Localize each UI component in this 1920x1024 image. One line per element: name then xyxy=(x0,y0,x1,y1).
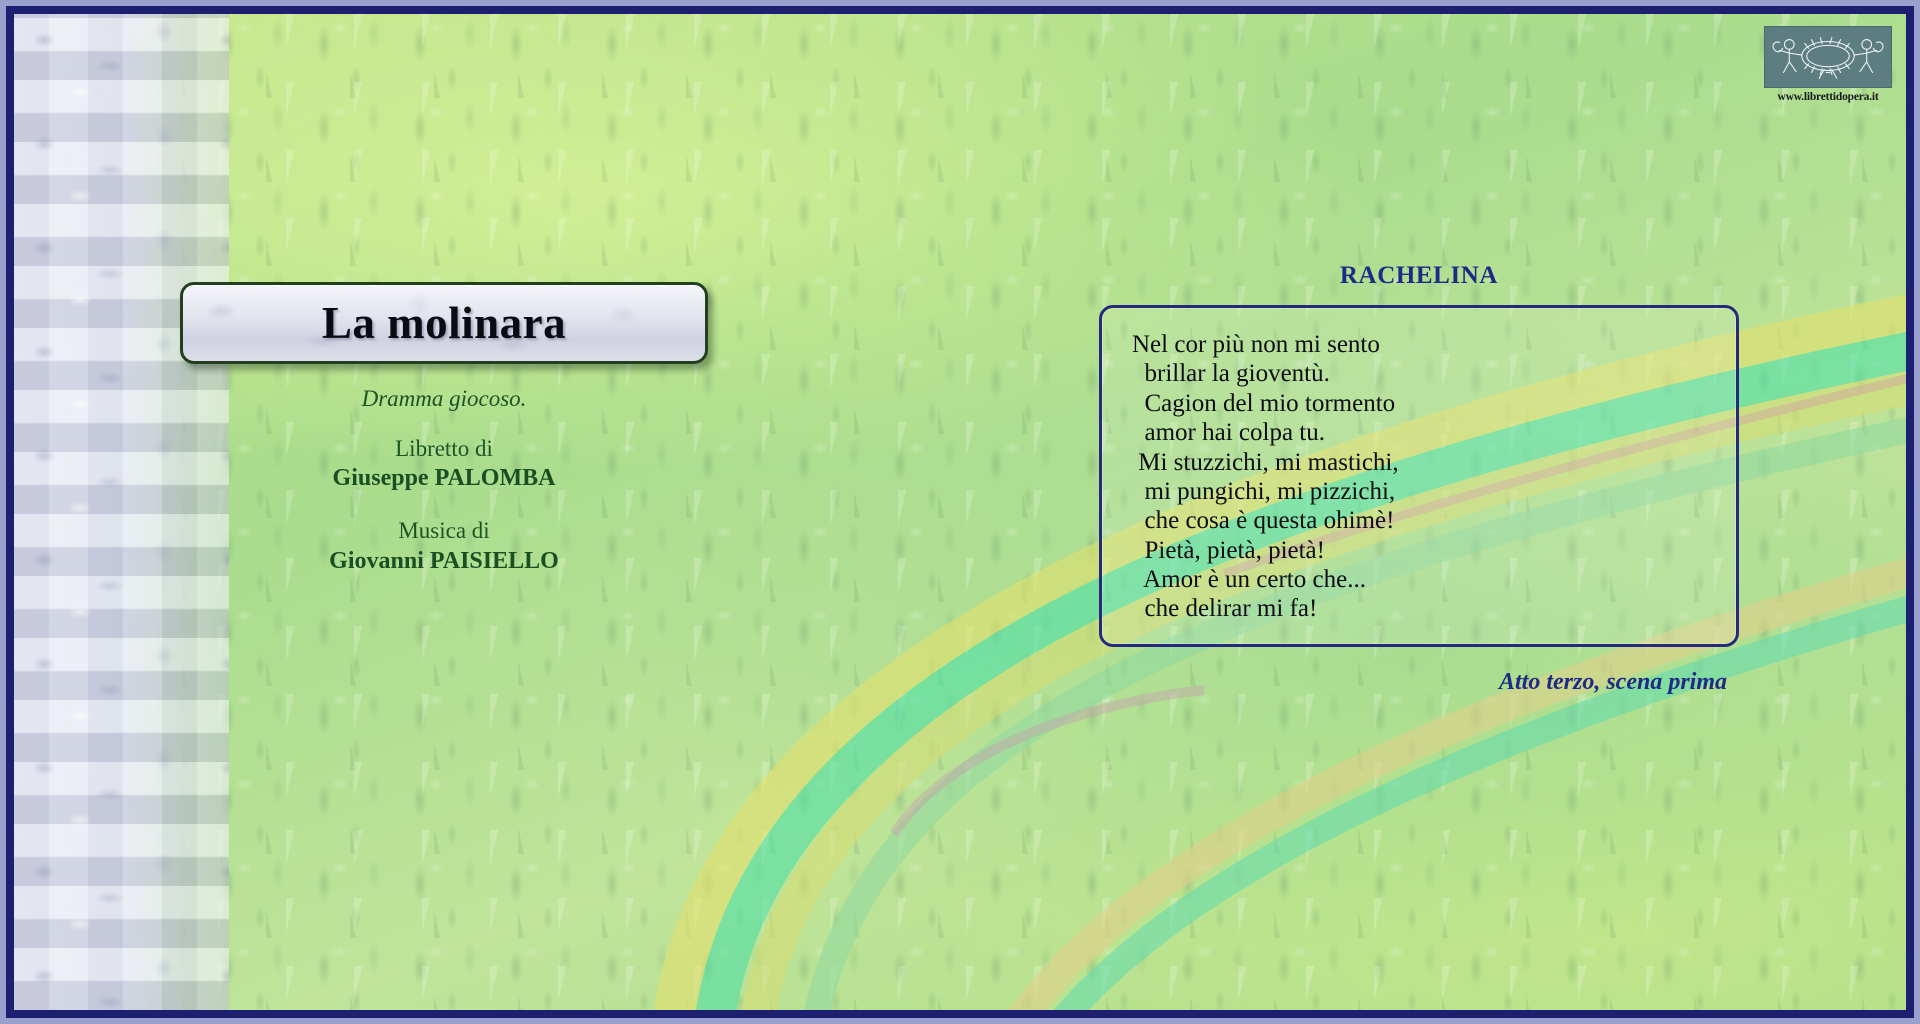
page-frame: www.librettidopera.it La molinara Dramma… xyxy=(6,6,1914,1018)
character-name: RACHELINA xyxy=(1099,262,1739,290)
two-putti-with-laurel-wreath-emblem xyxy=(1764,26,1892,88)
aria-line: che delirar mi fa! xyxy=(1132,594,1706,623)
page-title: La molinara xyxy=(322,297,566,349)
logo-caption: www.librettidopera.it xyxy=(1764,91,1892,103)
subtitle: Dramma giocoso. xyxy=(164,386,724,412)
aria-line: mi pungichi, mi pizzichi, xyxy=(1132,477,1706,506)
aria-line: Pietà, pietà, pietà! xyxy=(1132,536,1706,565)
aria-line: Amor è un certo che... xyxy=(1132,565,1706,594)
libretto-credit: Libretto di Giuseppe PALOMBA xyxy=(164,434,724,494)
libretto-role-label: Libretto di xyxy=(164,434,724,463)
aria-line: Nel cor più non mi sento xyxy=(1132,330,1706,359)
title-block: La molinara Dramma giocoso. Libretto di … xyxy=(164,282,724,576)
aria-line: Cagion del mio tormento xyxy=(1132,389,1706,418)
aria-line: Mi stuzzichi, mi mastichi, xyxy=(1132,448,1706,477)
libretto-author: Giuseppe PALOMBA xyxy=(164,463,724,494)
music-credit: Musica di Giovanni PAISIELLO xyxy=(164,516,724,576)
music-author: Giovanni PAISIELLO xyxy=(164,546,724,577)
aria-line: che cosa è questa ohimè! xyxy=(1132,506,1706,535)
music-role-label: Musica di xyxy=(164,516,724,545)
page-root: www.librettidopera.it La molinara Dramma… xyxy=(0,0,1920,1024)
aria-line: brillar la gioventù. xyxy=(1132,359,1706,388)
scene-reference: Atto terzo, scena prima xyxy=(1099,669,1739,696)
aria-line: amor hai colpa tu. xyxy=(1132,418,1706,447)
site-logo[interactable]: www.librettidopera.it xyxy=(1764,26,1892,103)
aria-block: RACHELINA Nel cor più non mi sento brill… xyxy=(1099,262,1739,696)
aria-text-box: Nel cor più non mi sento brillar la giov… xyxy=(1099,305,1739,647)
title-plate: La molinara xyxy=(180,282,708,364)
